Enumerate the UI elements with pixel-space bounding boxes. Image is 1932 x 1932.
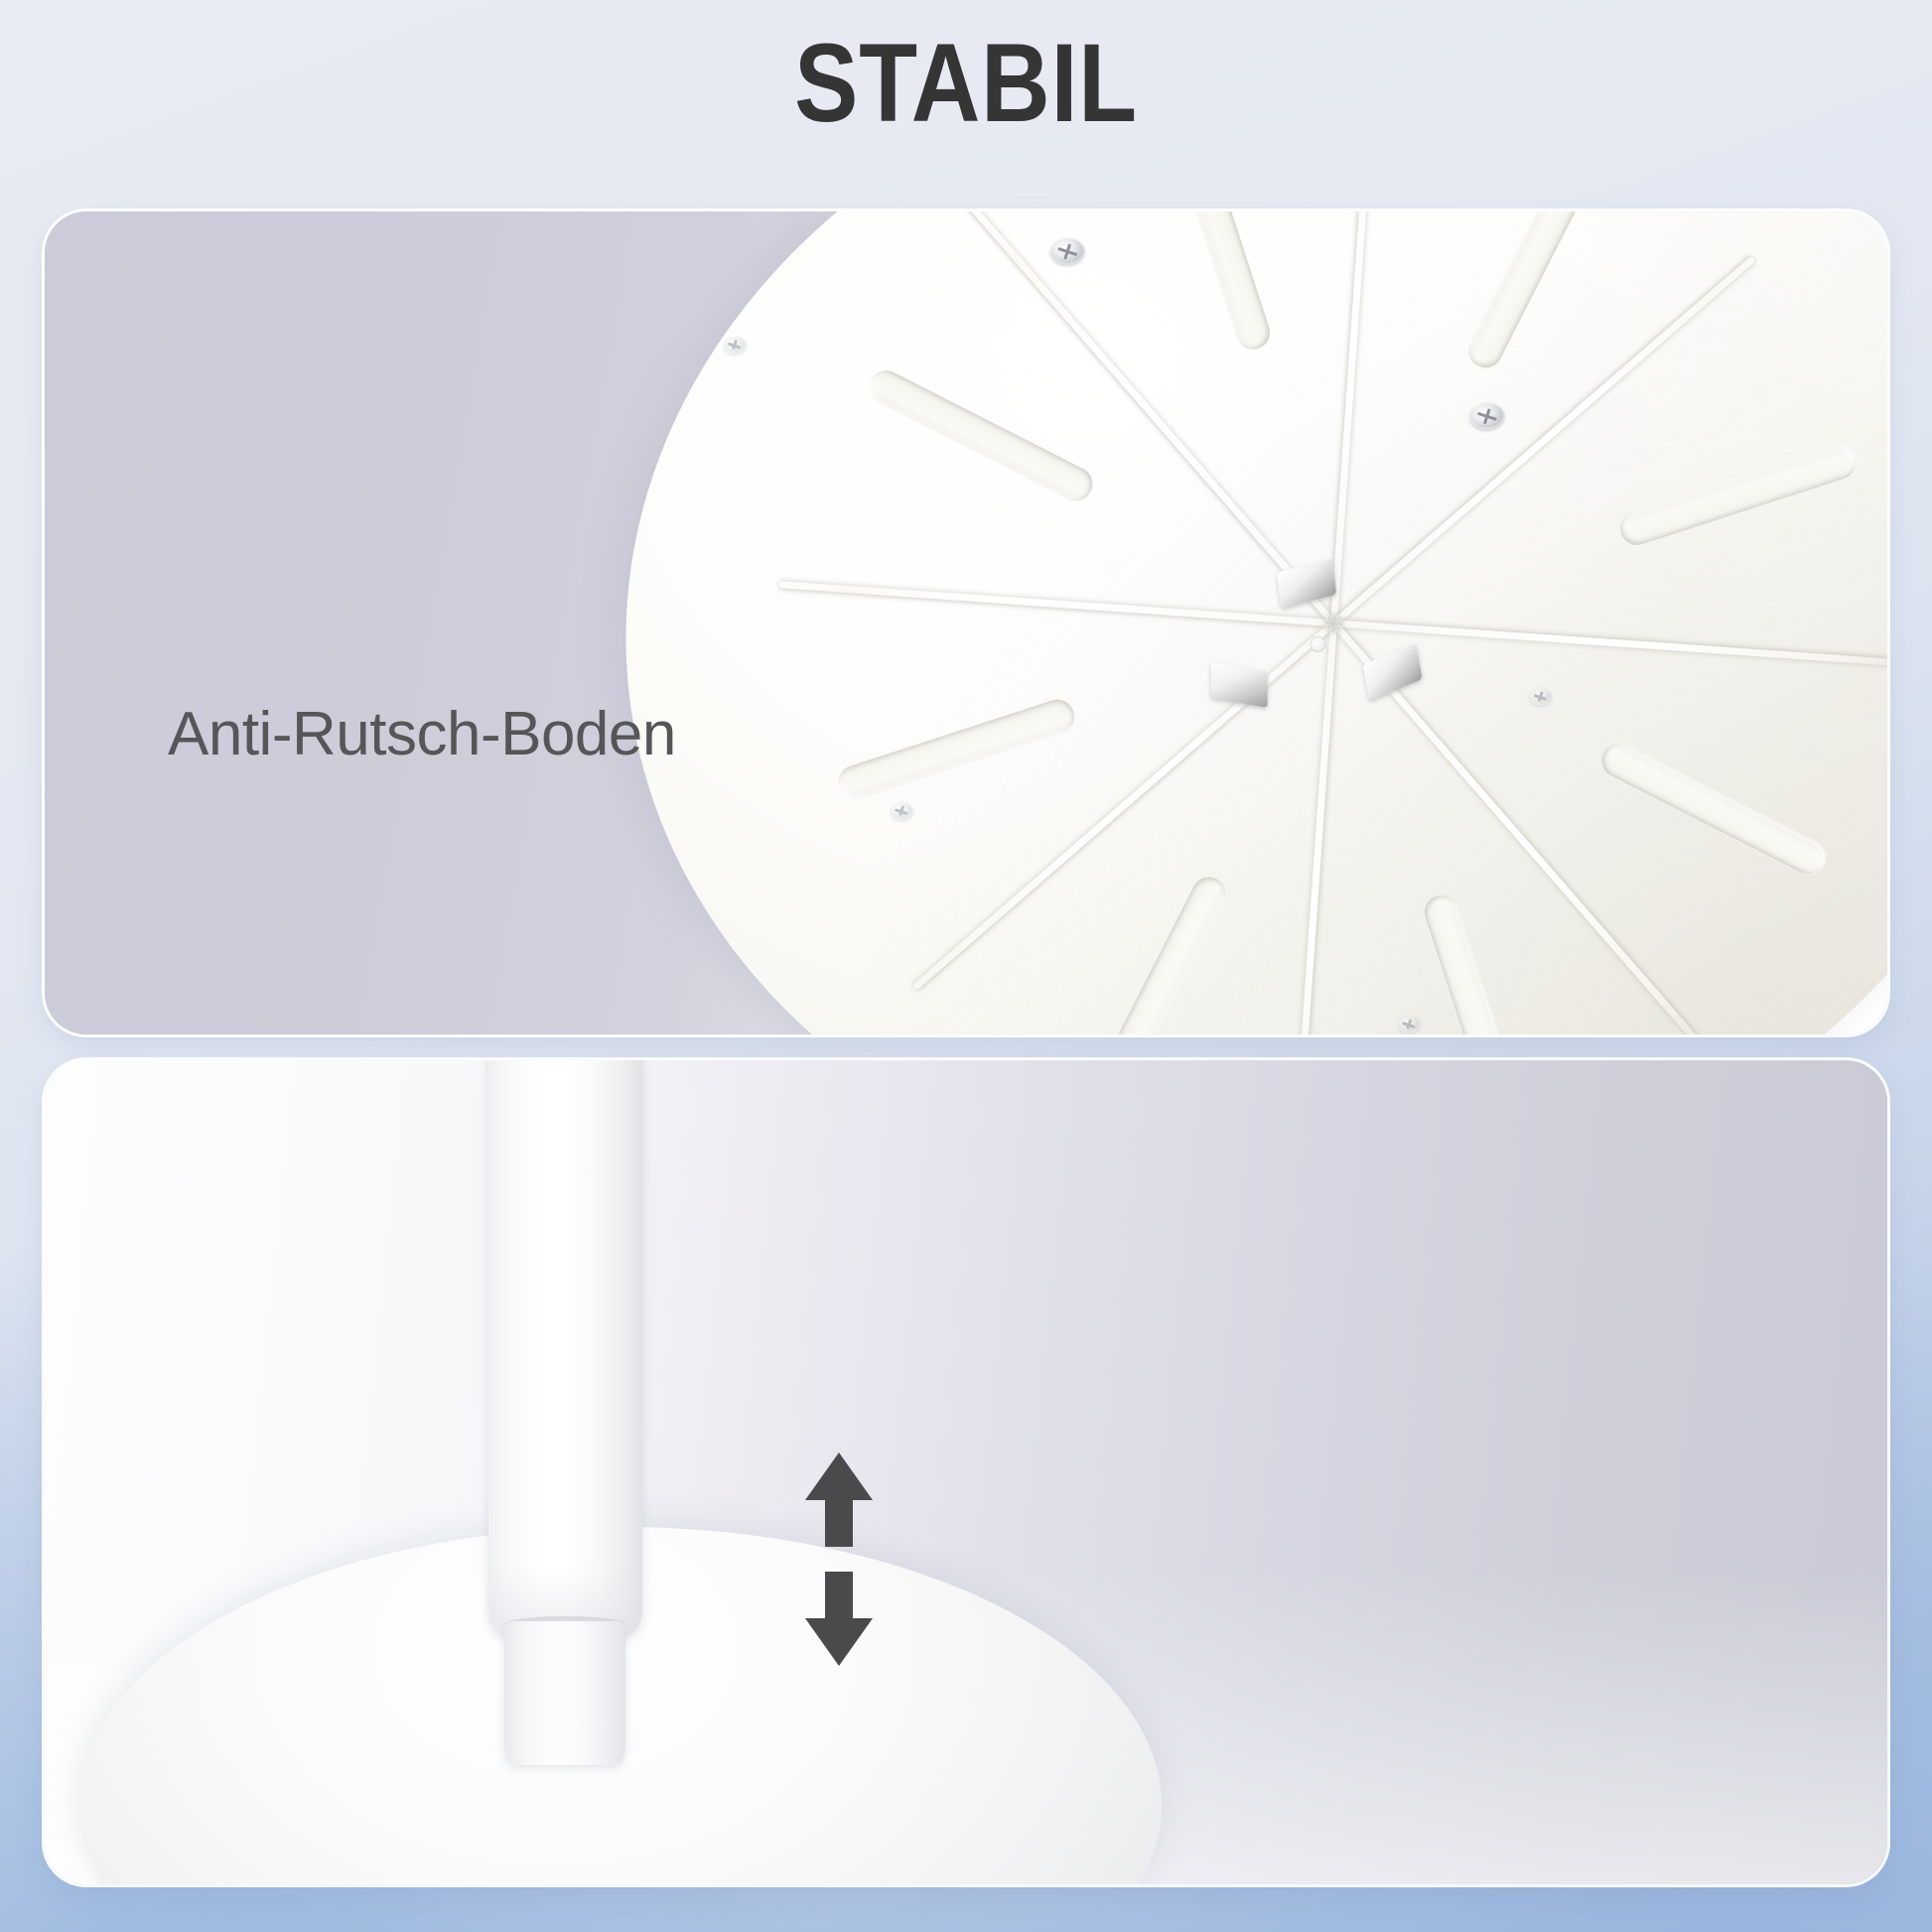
chair-base-photo (45, 211, 1887, 1035)
up-down-arrows-icon (801, 1452, 877, 1666)
infographic-canvas: STABIL (0, 0, 1932, 1932)
gas-lift-collar (504, 1621, 625, 1765)
base-disc (586, 211, 1887, 1035)
panel-label-anti-slip: Anti-Rutsch-Boden (168, 701, 676, 768)
feature-panel-gas-lift: Stabiler Gaslift (45, 1060, 1887, 1884)
page-title: STABIL (135, 28, 1797, 139)
gas-lift-column (488, 1060, 642, 1634)
feature-panel-anti-slip-base: Anti-Rutsch-Boden (45, 211, 1887, 1035)
gas-lift-photo (45, 1060, 1887, 1884)
